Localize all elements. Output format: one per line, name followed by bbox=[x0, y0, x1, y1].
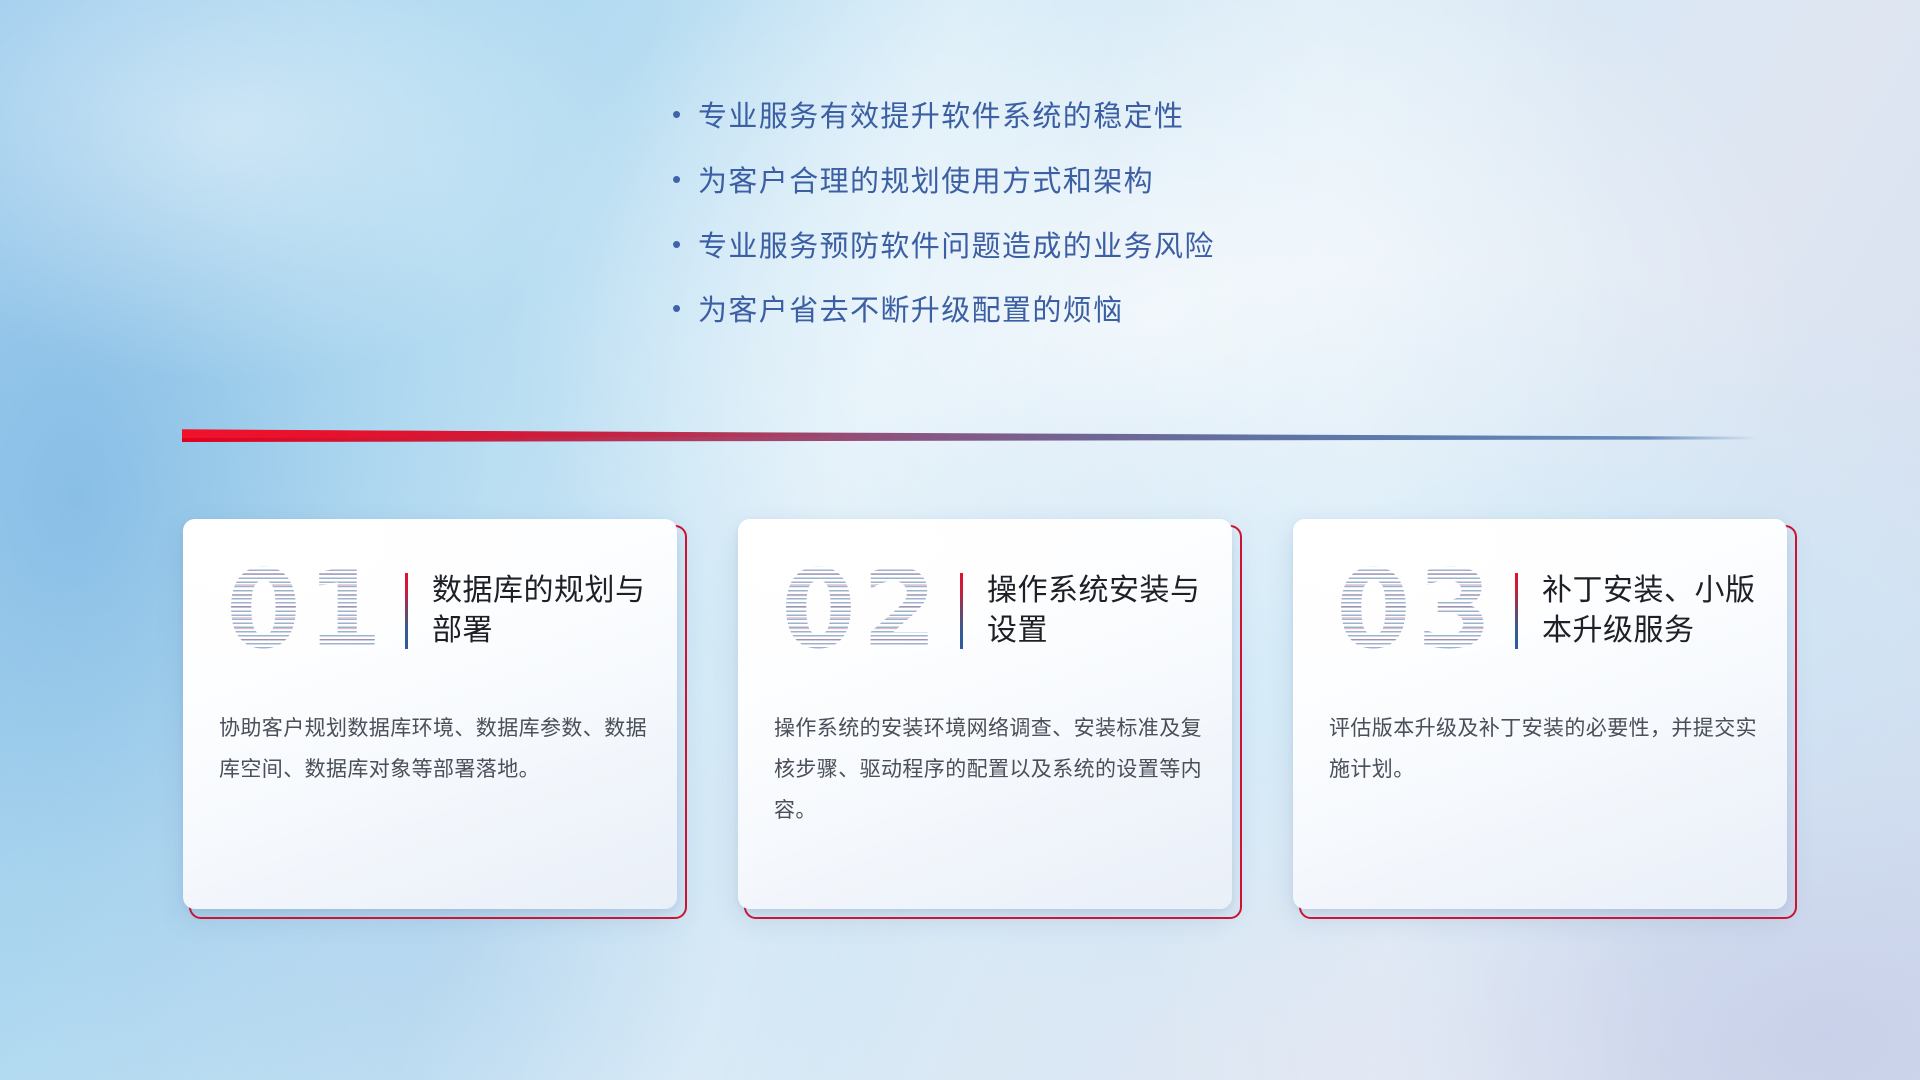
bullet-dot-icon: • bbox=[672, 166, 698, 192]
card-title: 数据库的规划与部署 bbox=[432, 571, 664, 652]
card-accent-bar bbox=[405, 573, 408, 649]
card-header: 02 02 操作系统安装与设置 bbox=[738, 541, 1232, 681]
bullet-text: 为客户合理的规划使用方式和架构 bbox=[698, 165, 1154, 200]
card-number-watermark: 01 01 bbox=[209, 551, 405, 671]
benefits-bullet-list: • 专业服务有效提升软件系统的稳定性 • 为客户合理的规划使用方式和架构 • 专… bbox=[672, 100, 1572, 359]
service-card-row: 01 01 数据库的规划与部署 协助客户规划数据库环境、数据库参数、数据库空间、… bbox=[0, 519, 1920, 929]
card-title: 操作系统安装与设置 bbox=[987, 571, 1219, 652]
list-item: • 为客户省去不断升级配置的烦恼 bbox=[672, 294, 1572, 329]
card-number-watermark: 03 03 bbox=[1319, 551, 1515, 671]
divider-wedge-highlight bbox=[182, 424, 875, 446]
bullet-dot-icon: • bbox=[672, 295, 698, 321]
list-item: • 专业服务有效提升软件系统的稳定性 bbox=[672, 100, 1572, 135]
service-card[interactable]: 02 02 操作系统安装与设置 操作系统的安装环境网络调查、安装标准及复核步骤、… bbox=[738, 519, 1242, 919]
card-header: 03 03 补丁安装、小版本升级服务 bbox=[1293, 541, 1787, 681]
bullet-text: 专业服务有效提升软件系统的稳定性 bbox=[698, 100, 1184, 135]
card-surface[interactable]: 01 01 数据库的规划与部署 协助客户规划数据库环境、数据库参数、数据库空间、… bbox=[183, 519, 677, 909]
bullet-text: 专业服务预防软件问题造成的业务风险 bbox=[698, 230, 1215, 265]
card-body-text: 协助客户规划数据库环境、数据库参数、数据库空间、数据库对象等部署落地。 bbox=[219, 709, 647, 791]
bullet-dot-icon: • bbox=[672, 231, 698, 257]
card-header: 01 01 数据库的规划与部署 bbox=[183, 541, 677, 681]
card-accent-bar bbox=[1515, 573, 1518, 649]
card-body-text: 评估版本升级及补丁安装的必要性，并提交实施计划。 bbox=[1329, 709, 1757, 791]
card-body-text: 操作系统的安装环境网络调查、安装标准及复核步骤、驱动程序的配置以及系统的设置等内… bbox=[774, 709, 1202, 832]
card-number-glyph-tint: 02 bbox=[764, 551, 960, 671]
card-accent-bar bbox=[960, 573, 963, 649]
service-card[interactable]: 01 01 数据库的规划与部署 协助客户规划数据库环境、数据库参数、数据库空间、… bbox=[183, 519, 687, 919]
card-surface[interactable]: 02 02 操作系统安装与设置 操作系统的安装环境网络调查、安装标准及复核步骤、… bbox=[738, 519, 1232, 909]
card-surface[interactable]: 03 03 补丁安装、小版本升级服务 评估版本升级及补丁安装的必要性，并提交实施… bbox=[1293, 519, 1787, 909]
bullet-text: 为客户省去不断升级配置的烦恼 bbox=[698, 294, 1124, 329]
card-number-glyph-tint: 01 bbox=[209, 551, 405, 671]
card-number-watermark: 02 02 bbox=[764, 551, 960, 671]
service-card[interactable]: 03 03 补丁安装、小版本升级服务 评估版本升级及补丁安装的必要性，并提交实施… bbox=[1293, 519, 1797, 919]
card-number-glyph-tint: 03 bbox=[1319, 551, 1515, 671]
list-item: • 专业服务预防软件问题造成的业务风险 bbox=[672, 230, 1572, 265]
card-title: 补丁安装、小版本升级服务 bbox=[1542, 571, 1774, 652]
section-divider bbox=[182, 424, 1757, 446]
list-item: • 为客户合理的规划使用方式和架构 bbox=[672, 165, 1572, 200]
bullet-dot-icon: • bbox=[672, 101, 698, 127]
